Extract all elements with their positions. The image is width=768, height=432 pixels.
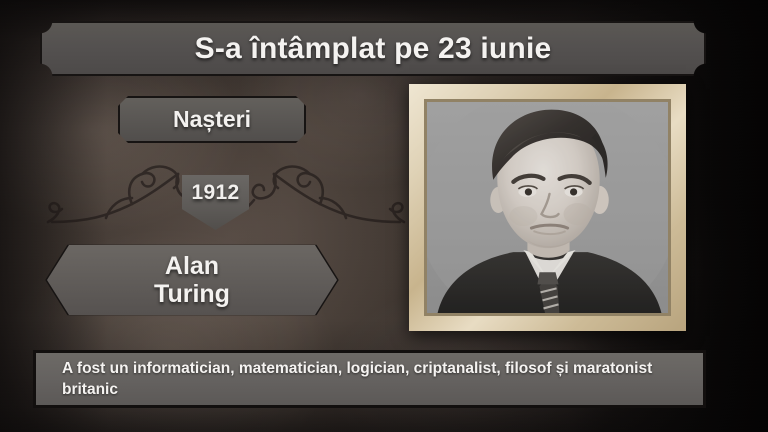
portrait-photo bbox=[427, 102, 668, 313]
category-plaque: Nașteri bbox=[118, 96, 306, 143]
title-banner: S-a întâmplat pe 23 iunie bbox=[40, 21, 706, 76]
person-last-name: Turing bbox=[154, 280, 230, 309]
page-title: S-a întâmplat pe 23 iunie bbox=[195, 32, 552, 66]
description-text: A fost un informatician, matematician, l… bbox=[36, 358, 703, 401]
portrait-frame-bevel bbox=[424, 99, 671, 316]
name-plaque: Alan Turing bbox=[47, 245, 337, 315]
category-label: Nașteri bbox=[173, 106, 251, 133]
slide-canvas: S-a întâmplat pe 23 iunie Nașteri 1912 A… bbox=[0, 0, 768, 432]
description-panel: A fost un informatician, matematician, l… bbox=[33, 350, 706, 408]
year-label: 1912 bbox=[192, 175, 240, 205]
portrait-frame bbox=[409, 84, 686, 331]
person-first-name: Alan bbox=[165, 252, 219, 281]
